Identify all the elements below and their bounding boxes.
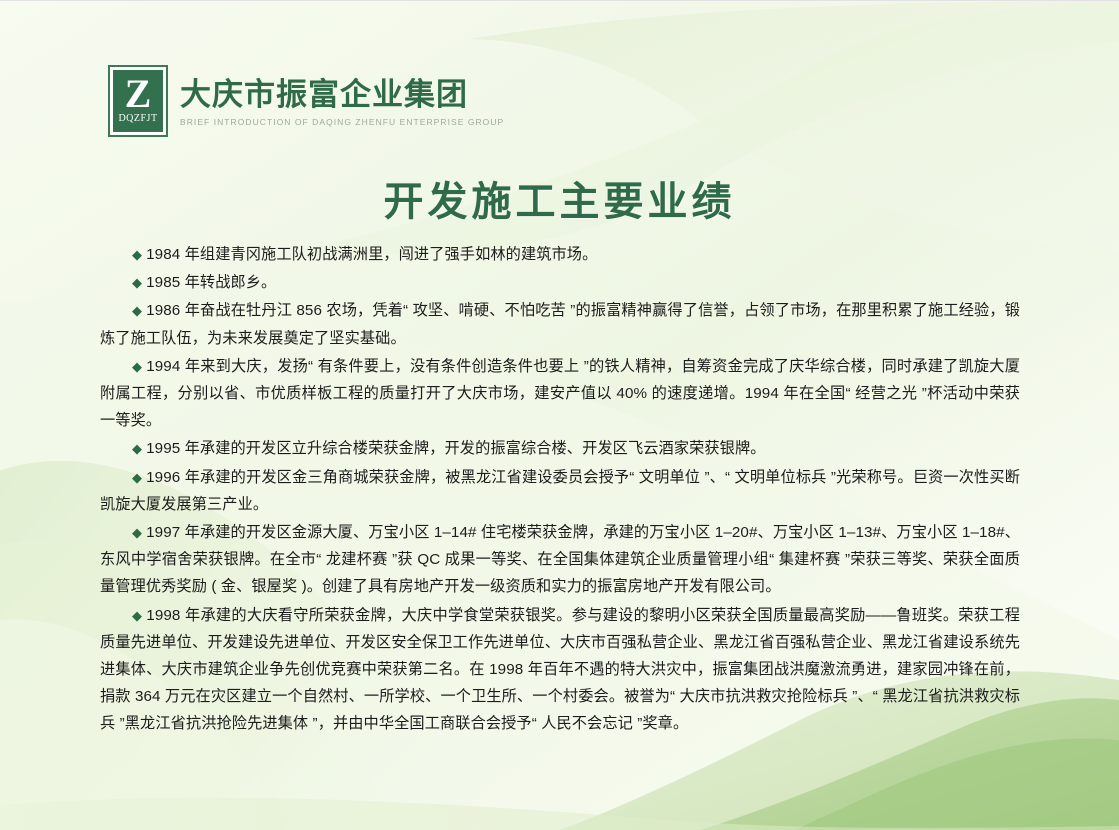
bullet-diamond-icon: ◆ (132, 525, 142, 540)
paragraph-text: 1998 年承建的大庆看守所荣获金牌，大庆中学食堂荣获银奖。参与建设的黎明小区荣… (100, 607, 1020, 733)
paragraph-text: 1995 年承建的开发区立升综合楼荣获金牌，开发的振富综合楼、开发区飞云酒家荣获… (146, 440, 765, 457)
brand-text-block: 大庆市振富企业集团 BRIEF INTRODUCTION OF DAQING Z… (180, 65, 504, 128)
bullet-diamond-icon: ◆ (132, 303, 142, 318)
bullet-diamond-icon: ◆ (132, 275, 142, 290)
bullet-paragraph: ◆1986 年奋战在牡丹江 856 农场，凭着“ 攻坚、啃硬、不怕吃苦 ”的振富… (100, 297, 1020, 351)
bullet-diamond-icon: ◆ (132, 247, 142, 262)
content-body: ◆1984 年组建青冈施工队初战满洲里，闯进了强手如林的建筑市场。 ◆1985 … (100, 241, 1020, 739)
paragraph-text: 1984 年组建青冈施工队初战满洲里，闯进了强手如林的建筑市场。 (146, 246, 597, 263)
paragraph-text: 1996 年承建的开发区金三角商城荣获金牌，被黑龙江省建设委员会授予“ 文明单位… (100, 469, 1020, 513)
slide-page: Z DQZFJT 大庆市振富企业集团 BRIEF INTRODUCTION OF… (0, 0, 1119, 830)
bullet-paragraph: ◆1985 年转战郎乡。 (100, 269, 1020, 296)
paragraph-text: 1994 年来到大庆，发扬“ 有条件要上，没有条件创造条件也要上 ”的铁人精神，… (100, 358, 1020, 429)
company-logo-mark: Z DQZFJT (108, 65, 168, 137)
paragraph-text: 1997 年承建的开发区金源大厦、万宝小区 1–14# 住宅楼荣获金牌，承建的万… (100, 524, 1020, 595)
bullet-diamond-icon: ◆ (132, 470, 142, 485)
paragraph-text: 1985 年转战郎乡。 (146, 274, 276, 291)
bullet-paragraph: ◆1984 年组建青冈施工队初战满洲里，闯进了强手如林的建筑市场。 (100, 241, 1020, 268)
logo-letter: Z (125, 76, 152, 112)
company-name-cn: 大庆市振富企业集团 (180, 77, 504, 113)
bullet-diamond-icon: ◆ (132, 441, 142, 456)
brand-header: Z DQZFJT 大庆市振富企业集团 BRIEF INTRODUCTION OF… (108, 65, 504, 137)
bullet-paragraph: ◆1995 年承建的开发区立升综合楼荣获金牌，开发的振富综合楼、开发区飞云酒家荣… (100, 435, 1020, 462)
bullet-diamond-icon: ◆ (132, 608, 142, 623)
bullet-paragraph: ◆1998 年承建的大庆看守所荣获金牌，大庆中学食堂荣获银奖。参与建设的黎明小区… (100, 602, 1020, 738)
bullet-paragraph: ◆1996 年承建的开发区金三角商城荣获金牌，被黑龙江省建设委员会授予“ 文明单… (100, 464, 1020, 518)
page-title: 开发施工主要业绩 (0, 169, 1119, 227)
paragraph-text: 1986 年奋战在牡丹江 856 农场，凭着“ 攻坚、啃硬、不怕吃苦 ”的振富精… (100, 302, 1020, 346)
logo-abbreviation: DQZFJT (118, 113, 157, 125)
company-name-en: BRIEF INTRODUCTION OF DAQING ZHENFU ENTE… (180, 116, 504, 128)
bullet-paragraph: ◆1997 年承建的开发区金源大厦、万宝小区 1–14# 住宅楼荣获金牌，承建的… (100, 519, 1020, 601)
bullet-paragraph: ◆1994 年来到大庆，发扬“ 有条件要上，没有条件创造条件也要上 ”的铁人精神… (100, 353, 1020, 435)
bullet-diamond-icon: ◆ (132, 359, 142, 374)
